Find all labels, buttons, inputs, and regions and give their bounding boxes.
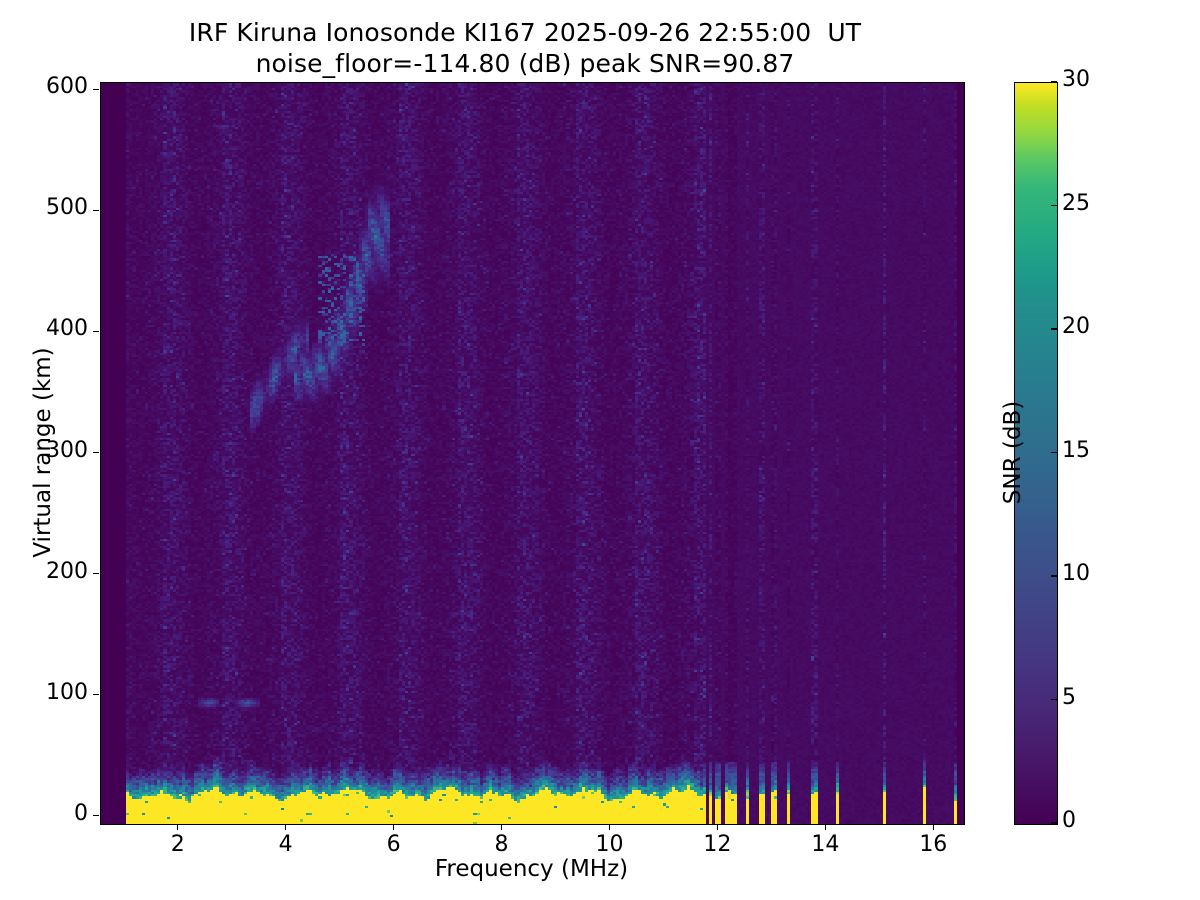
ionogram-heatmap bbox=[101, 83, 964, 824]
colorbar-tick-mark bbox=[1051, 699, 1057, 700]
y-tick-mark bbox=[93, 573, 99, 574]
colorbar-tick-label: 5 bbox=[1062, 685, 1132, 710]
y-tick-mark bbox=[93, 89, 99, 90]
x-tick-label: 8 bbox=[462, 832, 542, 857]
x-tick-mark bbox=[501, 824, 502, 830]
colorbar-label: SNR (dB) bbox=[1000, 82, 1030, 823]
y-tick-mark bbox=[93, 694, 99, 695]
x-tick-mark bbox=[717, 824, 718, 830]
x-tick-label: 10 bbox=[569, 832, 649, 857]
y-axis-label: Virtual range (km) bbox=[30, 82, 60, 823]
x-axis-label: Frequency (MHz) bbox=[100, 856, 963, 882]
colorbar-tick-label: 30 bbox=[1062, 67, 1132, 92]
x-tick-label: 4 bbox=[246, 832, 326, 857]
colorbar-tick-label: 15 bbox=[1062, 438, 1132, 463]
x-tick-label: 2 bbox=[138, 832, 218, 857]
ionogram-plot-area bbox=[100, 82, 965, 825]
x-tick-mark bbox=[393, 824, 394, 830]
y-tick-mark bbox=[93, 210, 99, 211]
x-tick-label: 16 bbox=[893, 832, 973, 857]
x-tick-label: 14 bbox=[785, 832, 865, 857]
chart-title: IRF Kiruna Ionosonde KI167 2025-09-26 22… bbox=[0, 18, 1050, 79]
x-tick-mark bbox=[933, 824, 934, 830]
y-tick-mark bbox=[93, 331, 99, 332]
x-tick-label: 12 bbox=[677, 832, 757, 857]
colorbar-tick-mark bbox=[1051, 328, 1057, 329]
x-tick-mark bbox=[609, 824, 610, 830]
x-tick-mark bbox=[285, 824, 286, 830]
title-line-1: IRF Kiruna Ionosonde KI167 2025-09-26 22… bbox=[0, 18, 1050, 49]
y-tick-mark bbox=[93, 815, 99, 816]
colorbar-tick-mark bbox=[1051, 205, 1057, 206]
ionogram-figure: IRF Kiruna Ionosonde KI167 2025-09-26 22… bbox=[0, 0, 1200, 900]
colorbar-tick-label: 20 bbox=[1062, 314, 1132, 339]
colorbar-tick-mark bbox=[1051, 575, 1057, 576]
y-tick-mark bbox=[93, 452, 99, 453]
colorbar-tick-label: 10 bbox=[1062, 561, 1132, 586]
colorbar-tick-mark bbox=[1051, 452, 1057, 453]
title-line-2: noise_floor=-114.80 (dB) peak SNR=90.87 bbox=[0, 49, 1050, 80]
x-tick-label: 6 bbox=[354, 832, 434, 857]
x-tick-mark bbox=[825, 824, 826, 830]
colorbar-tick-label: 0 bbox=[1062, 808, 1132, 833]
colorbar-tick-mark bbox=[1051, 822, 1057, 823]
x-tick-mark bbox=[177, 824, 178, 830]
colorbar-tick-mark bbox=[1051, 81, 1057, 82]
colorbar-tick-label: 25 bbox=[1062, 191, 1132, 216]
